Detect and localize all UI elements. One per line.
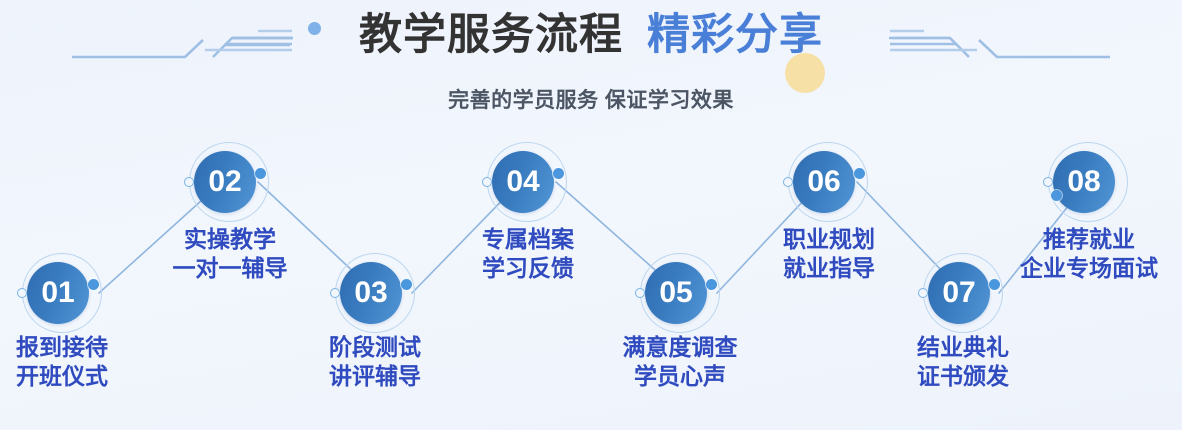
node-number-06: 06 (793, 151, 855, 213)
flow-label-02: 实操教学 一对一辅导 (160, 225, 300, 283)
flow-label-05-line2: 学员心声 (600, 362, 760, 391)
flow-label-08-line2: 企业专场面试 (996, 254, 1182, 283)
process-flow: 01 报到接待 开班仪式 02 实操教学 一对一辅导 03 (0, 125, 1182, 430)
flow-label-01: 报到接待 开班仪式 (0, 333, 124, 391)
infographic-canvas: 教学服务流程精彩分享 完善的学员服务 保证学习效果 01 报到 (0, 0, 1182, 430)
node-connector-dot-08 (1051, 190, 1062, 201)
flow-label-04-line2: 学习反馈 (458, 254, 598, 283)
node-number-02: 02 (194, 151, 256, 213)
flow-label-05-line1: 满意度调查 (600, 333, 760, 362)
node-connector-dot-01 (88, 279, 99, 290)
node-number-08: 08 (1053, 151, 1115, 213)
page-subtitle: 完善的学员服务 保证学习效果 (0, 84, 1182, 114)
title-accent-text: 精彩分享 (647, 11, 823, 59)
flow-label-07: 结业典礼 证书颁发 (901, 333, 1025, 391)
title-main-text: 教学服务流程 (359, 11, 623, 59)
node-pip-01 (17, 288, 27, 298)
node-pip-05 (635, 288, 645, 298)
header-banner: 教学服务流程精彩分享 完善的学员服务 保证学习效果 (0, 0, 1182, 125)
node-connector-dot-03 (401, 279, 412, 290)
flow-label-06: 职业规划 就业指导 (759, 225, 899, 283)
flow-label-01-line1: 报到接待 (0, 333, 124, 362)
flow-label-06-line2: 就业指导 (759, 254, 899, 283)
flow-label-04: 专属档案 学习反馈 (458, 225, 598, 283)
node-pip-07 (918, 288, 928, 298)
node-pip-03 (330, 288, 340, 298)
flow-label-02-line2: 一对一辅导 (160, 254, 300, 283)
node-pip-06 (783, 177, 793, 187)
flow-label-03: 阶段测试 讲评辅导 (313, 333, 437, 391)
flow-label-07-line2: 证书颁发 (901, 362, 1025, 391)
node-connector-dot-02 (255, 168, 266, 179)
flow-label-02-line1: 实操教学 (160, 225, 300, 254)
node-pip-02 (184, 177, 194, 187)
node-number-01: 01 (27, 262, 89, 324)
flow-label-08: 推荐就业 企业专场面试 (996, 225, 1182, 283)
page-title: 教学服务流程精彩分享 (0, 14, 1182, 57)
node-pip-08 (1043, 177, 1053, 187)
node-connector-dot-05 (706, 279, 717, 290)
node-number-04: 04 (492, 151, 554, 213)
node-connector-dot-06 (854, 168, 865, 179)
flow-label-07-line1: 结业典礼 (901, 333, 1025, 362)
node-number-07: 07 (928, 262, 990, 324)
flow-label-03-line1: 阶段测试 (313, 333, 437, 362)
flow-label-05: 满意度调查 学员心声 (600, 333, 760, 391)
node-number-05: 05 (645, 262, 707, 324)
flow-label-01-line2: 开班仪式 (0, 362, 124, 391)
node-connector-dot-04 (553, 168, 564, 179)
node-pip-04 (482, 177, 492, 187)
node-number-03: 03 (340, 262, 402, 324)
flow-label-06-line1: 职业规划 (759, 225, 899, 254)
flow-label-08-line1: 推荐就业 (996, 225, 1182, 254)
flow-label-04-line1: 专属档案 (458, 225, 598, 254)
flow-label-03-line2: 讲评辅导 (313, 362, 437, 391)
